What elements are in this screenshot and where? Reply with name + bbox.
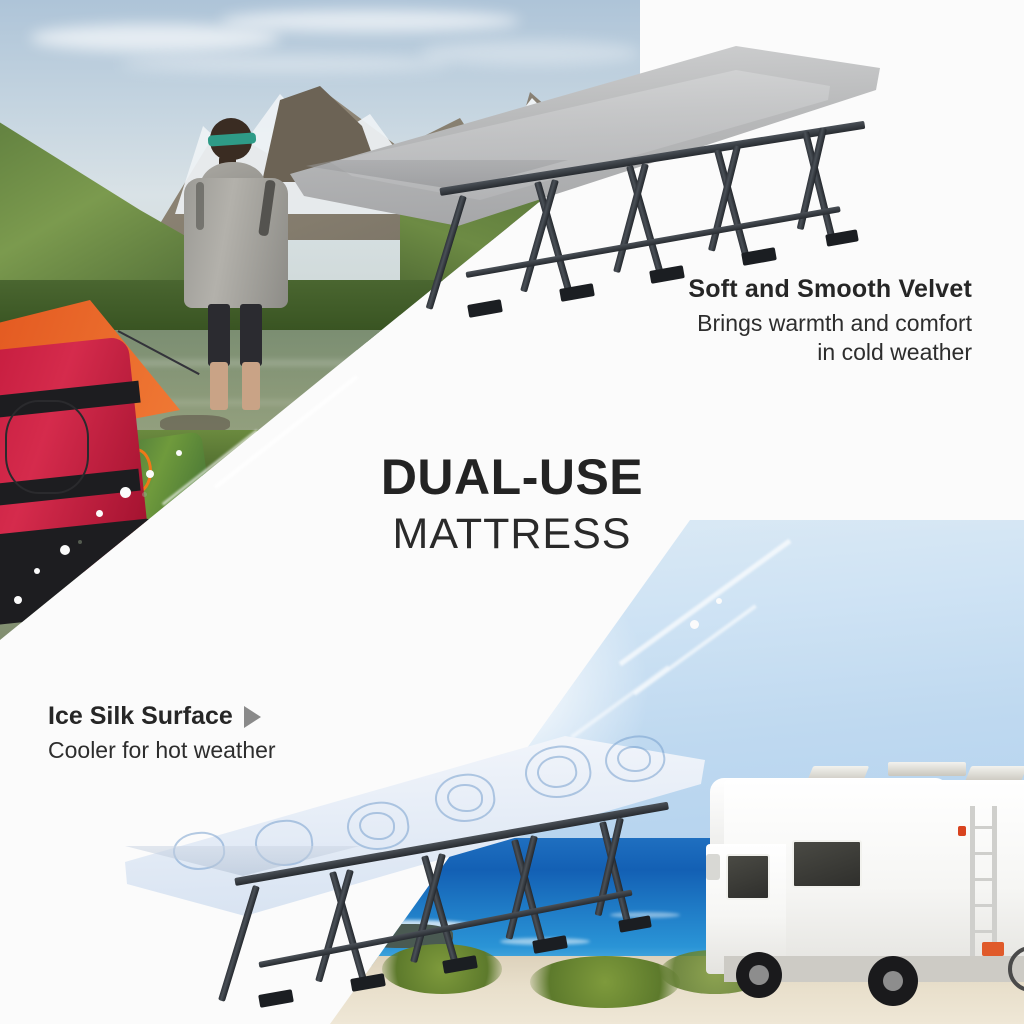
cross-rail [258, 890, 632, 968]
feature-velvet-text: Soft and Smooth Velvet Brings warmth and… [532, 275, 972, 368]
velvet-sub-line1: Brings warmth and comfort [532, 309, 972, 338]
page-title: DUAL-USE MATTRESS [0, 452, 1024, 562]
calf [210, 362, 228, 410]
velvet-sub-line2: in cold weather [532, 338, 972, 367]
foot-cap [350, 973, 386, 992]
cloud [30, 24, 280, 52]
floral-pattern [617, 746, 651, 772]
velvet-heading: Soft and Smooth Velvet [532, 275, 972, 304]
ladder-rung [970, 878, 997, 881]
floral-pattern [447, 784, 483, 812]
foot-cap [258, 989, 294, 1008]
side-mirror [706, 854, 720, 880]
ladder-rung [970, 852, 997, 855]
ladder-rung [970, 904, 997, 907]
ladder-rung [970, 930, 997, 933]
feature-ice-silk-text: Ice Silk Surface Cooler for hot weather [48, 702, 468, 765]
paint-splatter [716, 598, 722, 604]
ladder-rung [970, 826, 997, 829]
product-marketing-image: Soft and Smooth Velvet Brings warmth and… [0, 0, 1024, 1024]
side-window [792, 840, 862, 888]
cab-window [726, 854, 770, 900]
ice-silk-heading: Ice Silk Surface [48, 702, 233, 731]
roof-rack [888, 762, 966, 776]
paint-splatter [690, 620, 699, 629]
cross-rail [465, 206, 840, 278]
foot-cap [467, 299, 503, 318]
white-motorhome [700, 770, 1024, 1010]
ice-silk-sub-line1: Cooler for hot weather [48, 736, 468, 765]
paint-splatter [14, 596, 22, 604]
foot-cap [442, 955, 478, 974]
title-line-dual-use: DUAL-USE [0, 452, 1024, 502]
play-triangle-icon [244, 706, 261, 728]
backpack-strap [196, 182, 204, 230]
title-line-mattress: MATTRESS [0, 508, 1024, 562]
tail-light [982, 942, 1004, 956]
wheel-hub [749, 965, 769, 985]
paint-splatter [34, 568, 40, 574]
calf [242, 362, 260, 410]
wheel-hub [883, 971, 903, 991]
leg [240, 304, 262, 366]
marker-light [958, 826, 966, 836]
floral-pattern [359, 812, 395, 840]
leg [208, 304, 230, 366]
